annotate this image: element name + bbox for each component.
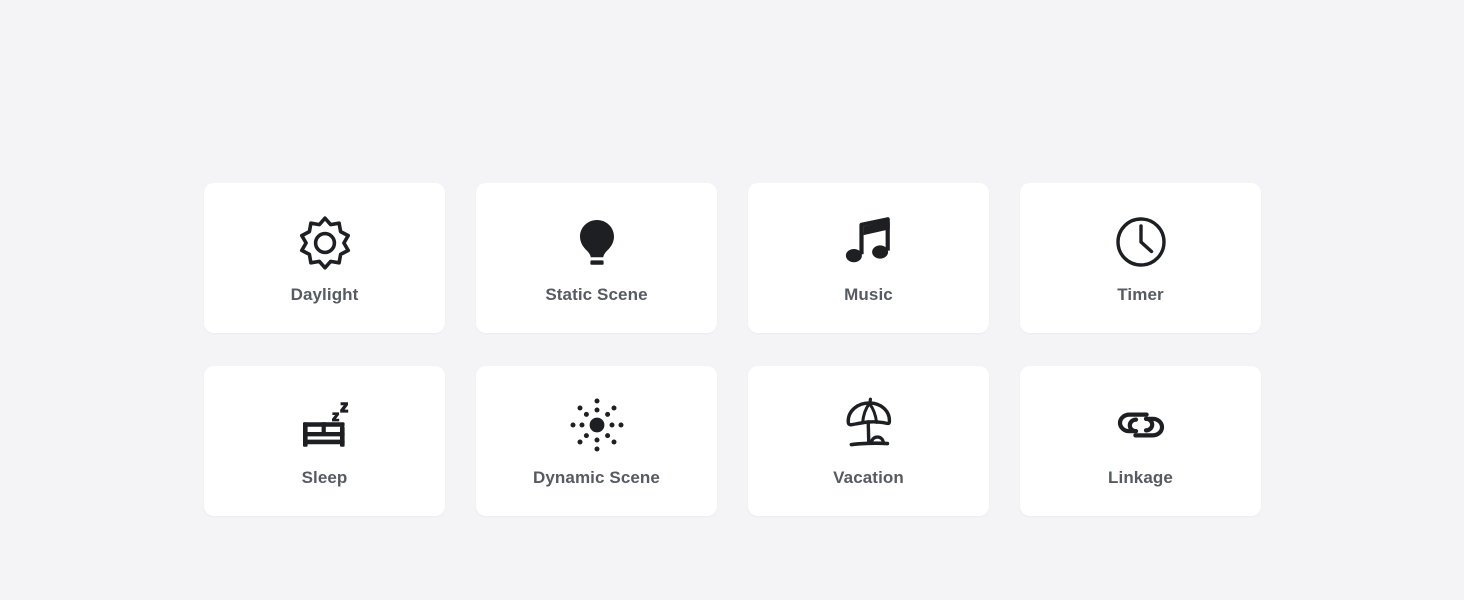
page-title: Customize Even More Scene Modes Exclusiv… [295, 104, 1169, 156]
scene-mode-card-music[interactable]: Music [748, 183, 989, 333]
music-note-icon [841, 211, 897, 273]
scene-mode-label: Linkage [1108, 468, 1173, 488]
scene-mode-card-timer[interactable]: Timer [1020, 183, 1261, 333]
scene-mode-card-daylight[interactable]: Daylight [204, 183, 445, 333]
scene-mode-label: Timer [1117, 285, 1164, 305]
radial-dots-icon [568, 394, 626, 456]
scene-mode-label: Dynamic Scene [533, 468, 660, 488]
chain-link-icon [1112, 394, 1170, 456]
scene-mode-grid: Daylight Static Scene Musi [204, 183, 1260, 516]
scene-mode-label: Daylight [291, 285, 359, 305]
lightbulb-icon [569, 211, 625, 273]
scene-mode-label: Sleep [302, 468, 348, 488]
scene-mode-card-sleep[interactable]: Sleep [204, 366, 445, 516]
scene-mode-label: Static Scene [545, 285, 647, 305]
scene-mode-card-static-scene[interactable]: Static Scene [476, 183, 717, 333]
scene-mode-card-dynamic-scene[interactable]: Dynamic Scene [476, 366, 717, 516]
scene-mode-label: Vacation [833, 468, 904, 488]
beach-umbrella-icon [840, 394, 898, 456]
sun-icon [297, 211, 353, 273]
clock-icon [1114, 211, 1168, 273]
scene-mode-card-vacation[interactable]: Vacation [748, 366, 989, 516]
scene-modes-section: Customize Even More Scene Modes Exclusiv… [0, 0, 1464, 600]
scene-mode-card-linkage[interactable]: Linkage [1020, 366, 1261, 516]
bed-icon [296, 394, 354, 456]
scene-mode-label: Music [844, 285, 893, 305]
